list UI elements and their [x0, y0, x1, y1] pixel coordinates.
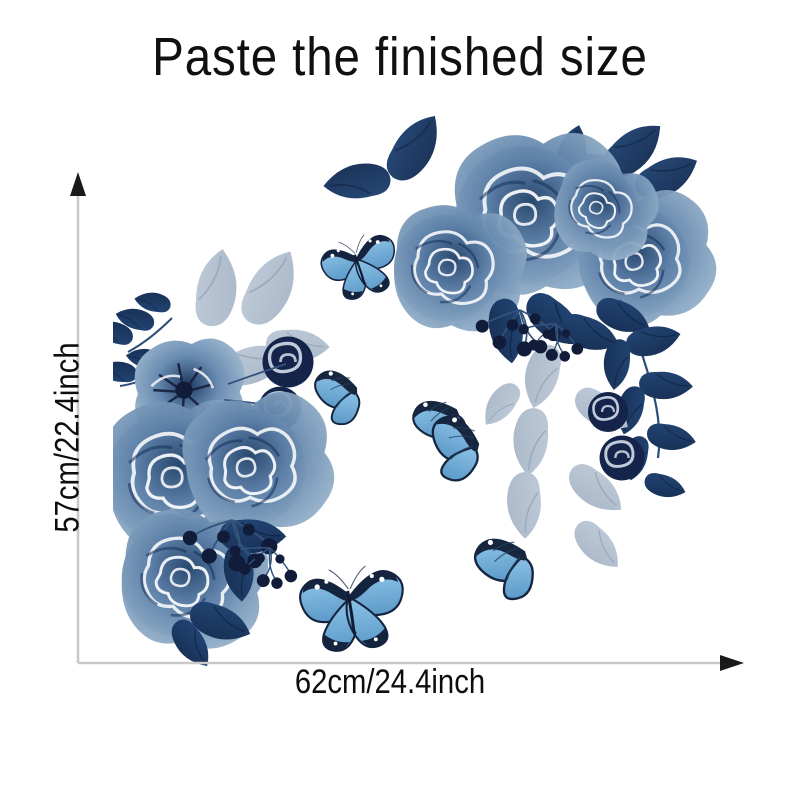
width-dimension-label: 62cm/24.4inch — [175, 663, 605, 702]
height-dimension-label: 57cm/22.4inch — [49, 309, 88, 567]
top-right-rose-cluster — [322, 112, 724, 578]
trailing-foliage-right — [473, 283, 698, 577]
butterfly-right-folded — [473, 536, 535, 603]
butterfly-upper-left — [316, 228, 404, 306]
product-size-diagram: Paste the finished size — [0, 0, 800, 800]
butterfly-bottom-large — [297, 562, 408, 654]
